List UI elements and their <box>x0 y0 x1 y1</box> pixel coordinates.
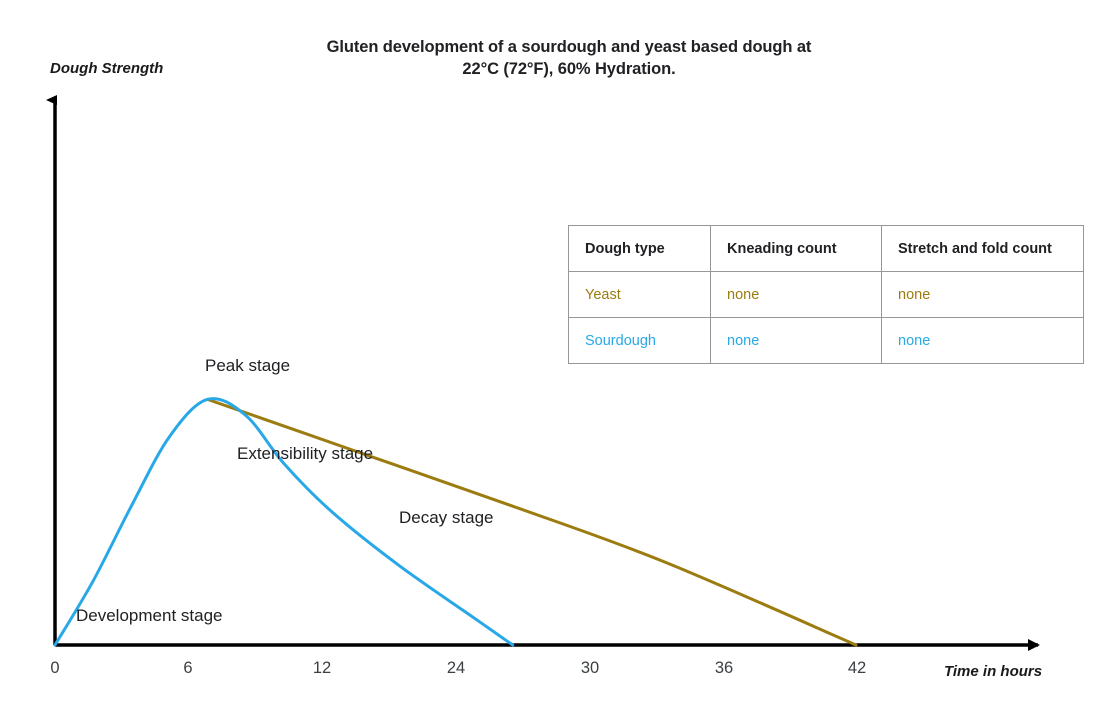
cell-yeast-stretch-fold: none <box>882 272 1084 318</box>
table-header-kneading-count: Kneading count <box>711 226 882 272</box>
x-tick-label-30: 30 <box>570 659 610 678</box>
cell-yeast-dough-type: Yeast <box>569 272 711 318</box>
x-tick-label-24: 24 <box>436 659 476 678</box>
cell-sourdough-dough-type: Sourdough <box>569 318 711 364</box>
x-tick-label-0: 0 <box>35 659 75 678</box>
annotation-development-stage: Development stage <box>76 606 222 626</box>
annotation-extensibility-stage: Extensibility stage <box>237 444 373 464</box>
annotation-peak-stage: Peak stage <box>205 356 290 376</box>
table-header-row: Dough type Kneading count Stretch and fo… <box>569 226 1084 272</box>
x-tick-label-6: 6 <box>168 659 208 678</box>
table-row-yeast: Yeast none none <box>569 272 1084 318</box>
x-tick-label-36: 36 <box>704 659 744 678</box>
table-header-stretch-fold: Stretch and fold count <box>882 226 1084 272</box>
series-line-yeast <box>208 399 856 645</box>
x-tick-label-12: 12 <box>302 659 342 678</box>
table-header-dough-type: Dough type <box>569 226 711 272</box>
chart-canvas: Gluten development of a sourdough and ye… <box>0 0 1108 706</box>
table-row-sourdough: Sourdough none none <box>569 318 1084 364</box>
annotation-decay-stage: Decay stage <box>399 508 494 528</box>
x-tick-label-42: 42 <box>837 659 877 678</box>
cell-yeast-kneading: none <box>711 272 882 318</box>
cell-sourdough-kneading: none <box>711 318 882 364</box>
cell-sourdough-stretch-fold: none <box>882 318 1084 364</box>
dough-info-table: Dough type Kneading count Stretch and fo… <box>568 225 1084 364</box>
